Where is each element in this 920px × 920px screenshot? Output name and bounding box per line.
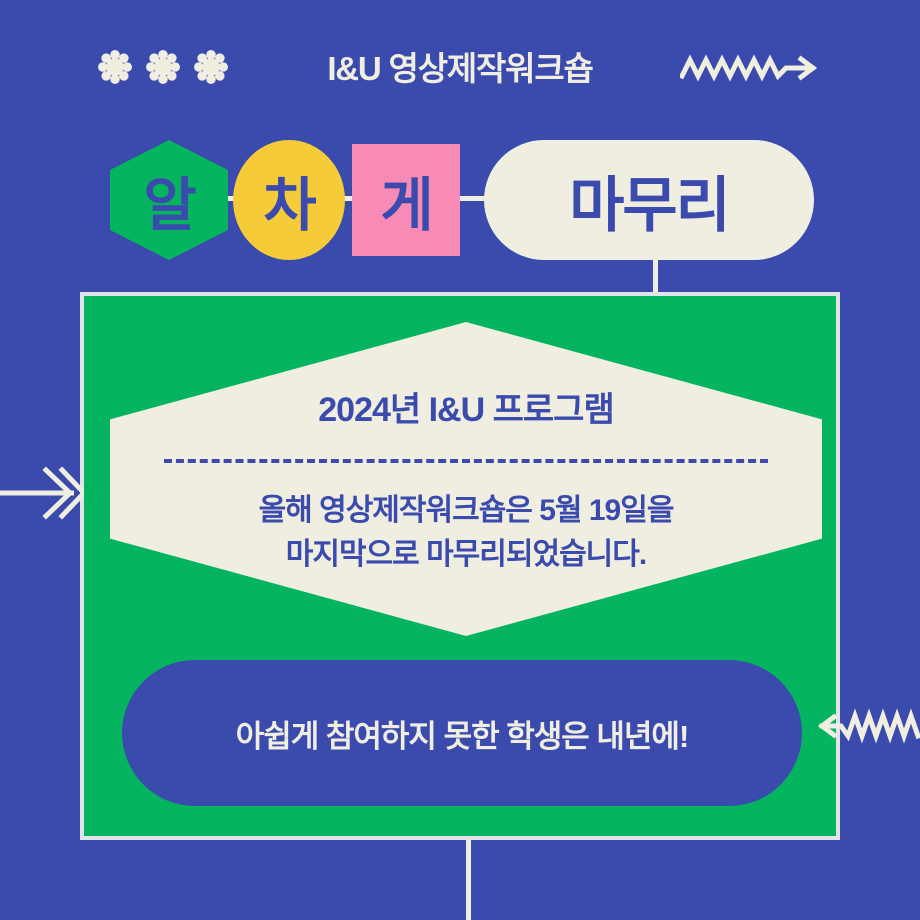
chip-al-label: 알 — [143, 158, 194, 242]
main-content-card: 2024년 I&U 프로그램 올해 영상제작워크숍은 5월 19일을 마지막으로… — [80, 292, 840, 840]
title-chip-row: 알 차 게 마무리 — [0, 136, 920, 264]
chip-ge: 게 — [352, 144, 460, 256]
chip-ge-label: 게 — [380, 158, 431, 242]
zigzag-arrow-left-icon — [818, 700, 920, 752]
poster-canvas: I&U 영상제작워크숍 알 차 게 마무리 2024년 I&U 프로그램 — [0, 0, 920, 920]
panel-body-line-2: 마지막으로 마무리되었습니다. — [259, 533, 674, 577]
chip-cha-label: 차 — [263, 158, 314, 242]
connector-line-top — [653, 258, 658, 294]
chip-mamuri: 마무리 — [484, 140, 814, 260]
chip-cha: 차 — [233, 140, 345, 260]
panel-body-line-1: 올해 영상제작워크숍은 5월 19일을 — [259, 489, 674, 533]
connector-line-bottom — [466, 840, 471, 920]
chip-al: 알 — [110, 140, 228, 260]
panel-divider — [164, 459, 768, 463]
info-hexagon-panel: 2024년 I&U 프로그램 올해 영상제작워크숍은 5월 19일을 마지막으로… — [110, 322, 822, 636]
chip-mamuri-label: 마무리 — [569, 157, 729, 244]
header: I&U 영상제작워크숍 — [0, 46, 920, 108]
cta-banner: 아쉽게 참여하지 못한 학생은 내년에! — [122, 660, 802, 806]
zigzag-arrow-right-icon — [680, 52, 820, 86]
cta-label: 아쉽게 참여하지 못한 학생은 내년에! — [236, 711, 689, 756]
double-chevron-arrow-right-icon — [0, 462, 84, 524]
panel-body: 올해 영상제작워크숍은 5월 19일을 마지막으로 마무리되었습니다. — [259, 489, 674, 577]
panel-title: 2024년 I&U 프로그램 — [318, 382, 613, 431]
